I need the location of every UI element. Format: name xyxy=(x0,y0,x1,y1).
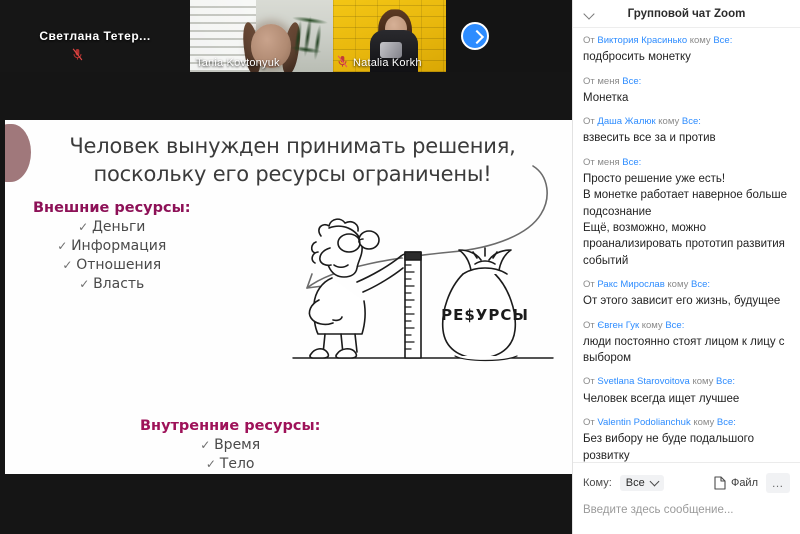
chat-message-sender[interactable]: Svetlana Starovoitova xyxy=(597,376,689,387)
shared-screen-slide: Человек вынужден принимать решения, поск… xyxy=(5,120,572,474)
cartoon-illustration: РЕ$УРСЫ xyxy=(285,208,560,383)
chat-message-input[interactable]: Введите здесь сообщение... xyxy=(583,504,790,516)
meeting-area: Светлана Тетер... Tania Kovtonyuk xyxy=(0,0,572,534)
chat-message-text: От этого зависит его жизнь, будущее xyxy=(583,293,790,309)
chat-message-meta: От меня Все: xyxy=(583,156,790,170)
chat-message-meta: От Даша Жалюк кому Все: xyxy=(583,115,790,129)
chat-message-text: взвесить все за и против xyxy=(583,130,790,146)
resource-item: Власть xyxy=(33,275,191,294)
participant-video-overlay xyxy=(5,124,31,182)
chat-message-recipient[interactable]: Все: xyxy=(665,320,684,331)
resource-block-external: Внешние ресурсы: Деньги Информация Отнош… xyxy=(33,200,191,294)
participant-tile-svetlana[interactable]: Светлана Тетер... xyxy=(0,0,190,72)
chat-message: От Даша Жалюк кому Все:взвесить все за и… xyxy=(583,115,790,147)
chat-message-suffix: кому xyxy=(656,116,682,127)
chat-message-list[interactable]: От Виктория Красинько кому Все:подбросит… xyxy=(573,28,800,462)
ellipsis-icon: … xyxy=(772,476,785,490)
chat-file-button[interactable]: Файл xyxy=(714,476,758,490)
chat-message: От Ракс Мирослав кому Все:От этого завис… xyxy=(583,278,790,310)
chat-message: От Євген Гук кому Все:люди постоянно сто… xyxy=(583,319,790,367)
chat-to-label: Кому: xyxy=(583,477,612,489)
chat-message-meta: От Євген Гук кому Все: xyxy=(583,319,790,333)
chat-message-sender[interactable]: Євген Гук xyxy=(597,320,639,331)
resource-item: Информация xyxy=(33,237,191,256)
resource-block-internal: Внутренние ресурсы: Время Тело Интеллект… xyxy=(140,418,320,474)
chat-message-text: люди постоянно стоят лицом к лицу с выбо… xyxy=(583,334,790,367)
chat-message-recipient[interactable]: Все: xyxy=(716,376,735,387)
resource-item: Тело xyxy=(140,455,320,474)
file-icon xyxy=(714,476,726,490)
chat-message-text: Монетка xyxy=(583,90,790,106)
participant-name-natalia: Natalia Korkh xyxy=(353,57,422,69)
chat-message-text: подбросить монетку xyxy=(583,49,790,65)
chat-message-meta: От меня Все: xyxy=(583,75,790,89)
participant-tile-natalia[interactable]: Natalia Korkh xyxy=(333,0,446,72)
chat-header: Групповой чат Zoom xyxy=(573,0,800,28)
chat-message-prefix: От xyxy=(583,320,597,331)
chat-file-label: Файл xyxy=(731,477,758,489)
chat-recipient-value: Все xyxy=(626,477,645,489)
participant-tile-tania[interactable]: Tania Kovtonyuk xyxy=(190,0,333,72)
resource-item: Отношения xyxy=(33,256,191,275)
chat-message-sender[interactable]: Valentin Podolianchuk xyxy=(597,417,690,428)
participant-filmstrip: Светлана Тетер... Tania Kovtonyuk xyxy=(0,0,572,72)
chat-title: Групповой чат Zoom xyxy=(628,8,746,20)
resource-item: Деньги xyxy=(33,218,191,237)
chevron-down-icon xyxy=(649,476,659,486)
chat-message-suffix: кому xyxy=(691,417,717,428)
chat-message-suffix: кому xyxy=(690,376,716,387)
chat-message-sender[interactable]: Даша Жалюк xyxy=(597,116,655,127)
chat-message-prefix: От меня xyxy=(583,76,622,87)
chat-message-text: Просто решение уже есть! В монетке работ… xyxy=(583,171,790,269)
chat-message-sender[interactable]: Ракс Мирослав xyxy=(597,279,664,290)
chat-message-sender[interactable]: Виктория Красинько xyxy=(597,35,687,46)
resource-list-internal: Время Тело Интеллект Эмоции xyxy=(140,436,320,474)
chat-message-prefix: От xyxy=(583,279,597,290)
chat-message-recipient[interactable]: Все: xyxy=(717,417,736,428)
chat-message-recipient[interactable]: Все: xyxy=(691,279,710,290)
resource-heading-external: Внешние ресурсы: xyxy=(33,200,191,216)
chat-message-prefix: От xyxy=(583,116,597,127)
chat-message-suffix: кому xyxy=(665,279,691,290)
chat-message-meta: От Svetlana Starovoitova кому Все: xyxy=(583,375,790,389)
chat-message-meta: От Ракс Мирослав кому Все: xyxy=(583,278,790,292)
microphone-muted-icon xyxy=(337,55,348,68)
chat-message-text: Без вибору не буде подальшого розвитку xyxy=(583,431,790,462)
zoom-meeting-window: Светлана Тетер... Tania Kovtonyuk xyxy=(0,0,800,534)
chat-message-sender[interactable]: Все: xyxy=(622,157,641,168)
chat-message: От Виктория Красинько кому Все:подбросит… xyxy=(583,34,790,66)
chat-message-sender[interactable]: Все: xyxy=(622,76,641,87)
chat-message-meta: От Valentin Podolianchuk кому Все: xyxy=(583,416,790,430)
chat-recipient-select[interactable]: Все xyxy=(620,475,664,491)
chat-message: От Valentin Podolianchuk кому Все:Без ви… xyxy=(583,416,790,462)
chat-message-prefix: От xyxy=(583,417,597,428)
participant-name-svetlana: Светлана Тетер... xyxy=(39,29,150,43)
chat-message-text: Человек всегда ищет лучшее xyxy=(583,391,790,407)
resource-list-external: Деньги Информация Отношения Власть xyxy=(33,218,191,294)
chat-message-prefix: От меня xyxy=(583,157,622,168)
chat-message-suffix: кому xyxy=(639,320,665,331)
microphone-muted-icon xyxy=(72,48,83,61)
participant-name-tania: Tania Kovtonyuk xyxy=(196,57,280,69)
sack-label: РЕ$УРСЫ xyxy=(441,306,529,324)
chat-message-prefix: От xyxy=(583,35,597,46)
chat-message-recipient[interactable]: Все: xyxy=(713,35,732,46)
chat-message: От меня Все:Монетка xyxy=(583,75,790,107)
chevron-down-icon[interactable] xyxy=(585,9,595,19)
chat-message: От меня Все:Просто решение уже есть! В м… xyxy=(583,156,790,269)
chat-message-recipient[interactable]: Все: xyxy=(682,116,701,127)
chat-message-prefix: От xyxy=(583,376,597,387)
chat-more-options-button[interactable]: … xyxy=(766,473,790,493)
chat-panel: Групповой чат Zoom От Виктория Красинько… xyxy=(572,0,800,534)
chat-message: От Svetlana Starovoitova кому Все:Челове… xyxy=(583,375,790,407)
chat-message-meta: От Виктория Красинько кому Все: xyxy=(583,34,790,48)
filmstrip-next-arrow-icon[interactable] xyxy=(461,22,489,50)
chat-message-suffix: кому xyxy=(687,35,713,46)
resource-heading-internal: Внутренние ресурсы: xyxy=(140,418,320,434)
resource-item: Время xyxy=(140,436,320,455)
chat-footer: Кому: Все Файл … Введите здесь сообщение… xyxy=(573,462,800,534)
